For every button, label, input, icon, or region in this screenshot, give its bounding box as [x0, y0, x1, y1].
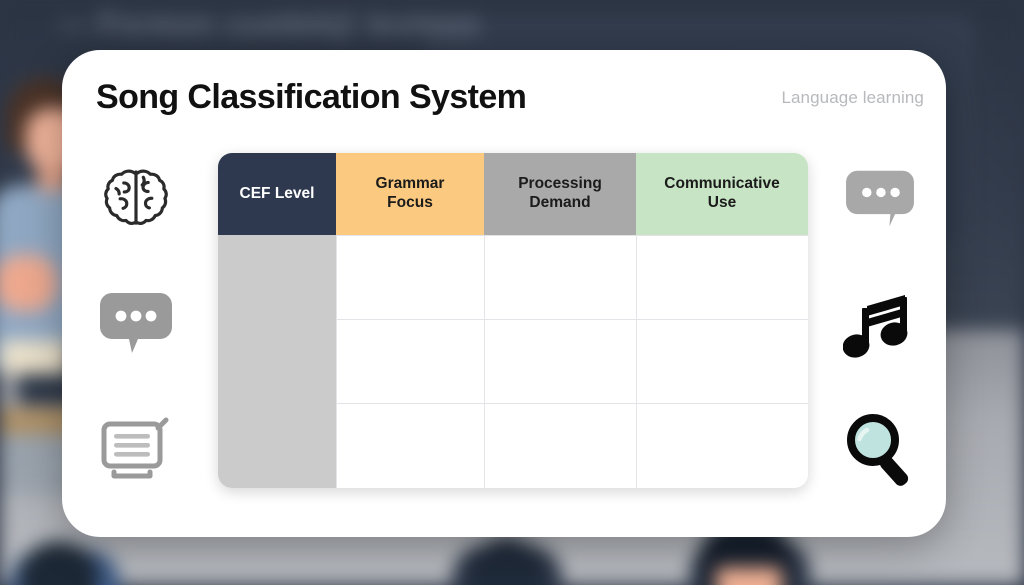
- table-header: CEF Level Grammar Focus Processing Deman…: [218, 153, 808, 235]
- header-line: Communicative: [664, 175, 779, 192]
- music-note-icon: [832, 280, 928, 368]
- speech-bubble-icon: [832, 156, 928, 244]
- background-overlay-text: — Fnrmon cumb4@ levtnuo: [58, 8, 480, 42]
- table-row[interactable]: [218, 404, 808, 488]
- header-line: Grammar: [376, 175, 445, 192]
- cell-cef[interactable]: [218, 404, 336, 488]
- cell-processing[interactable]: [484, 404, 636, 488]
- header-line: Use: [708, 194, 736, 211]
- cell-grammar[interactable]: [336, 319, 484, 403]
- cell-communicative[interactable]: [636, 404, 808, 488]
- cell-cef[interactable]: [218, 319, 336, 403]
- table-grid: CEF Level Grammar Focus Processing Deman…: [218, 153, 808, 488]
- magnifier-icon: [832, 404, 928, 492]
- screenshot-root: — Fnrmon cumb4@ levtnuo Song Cl: [0, 0, 1024, 585]
- cell-grammar[interactable]: [336, 404, 484, 488]
- left-icon-rail: [76, 150, 196, 520]
- cell-cef[interactable]: [218, 235, 336, 319]
- cell-processing[interactable]: [484, 319, 636, 403]
- column-header-grammar-focus[interactable]: Grammar Focus: [336, 153, 484, 235]
- column-header-processing-demand[interactable]: Processing Demand: [484, 153, 636, 235]
- header-line: CEF Level: [240, 185, 315, 202]
- column-header-cef-level[interactable]: CEF Level: [218, 153, 336, 235]
- cell-processing[interactable]: [484, 235, 636, 319]
- teacher-arm: [0, 255, 58, 311]
- page-title: Song Classification System: [96, 78, 526, 117]
- table-row[interactable]: [218, 319, 808, 403]
- card-subtitle: Language learning: [781, 88, 924, 108]
- content-card: Song Classification System Language lear…: [62, 50, 946, 537]
- table-row[interactable]: [218, 235, 808, 319]
- table-header-row: CEF Level Grammar Focus Processing Deman…: [218, 153, 808, 235]
- right-icon-rail: [820, 150, 940, 520]
- table-body: [218, 235, 808, 488]
- classification-table[interactable]: CEF Level Grammar Focus Processing Deman…: [218, 153, 808, 488]
- header-line: Demand: [529, 194, 590, 211]
- header-line: Focus: [387, 194, 433, 211]
- cell-communicative[interactable]: [636, 235, 808, 319]
- header-line: Processing: [518, 175, 602, 192]
- cell-grammar[interactable]: [336, 235, 484, 319]
- brain-icon: [88, 156, 184, 244]
- speech-bubble-icon: [88, 280, 184, 368]
- column-header-communicative-use[interactable]: Communicative Use: [636, 153, 808, 235]
- document-board-icon: [88, 404, 184, 492]
- teacher-paper: [0, 340, 70, 374]
- cell-communicative[interactable]: [636, 319, 808, 403]
